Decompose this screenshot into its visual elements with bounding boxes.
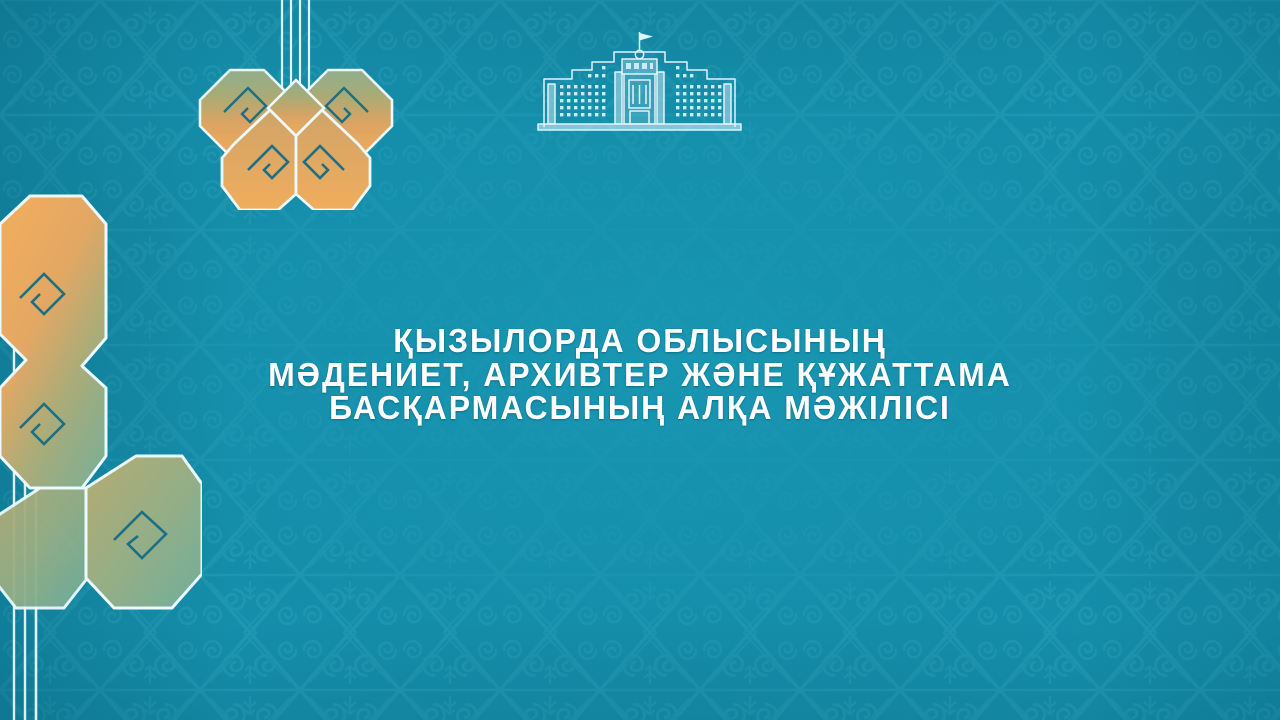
title-slide: ҚЫЗЫЛОРДА ОБЛЫСЫНЫҢ МӘДЕНИЕТ, АРХИВТЕР Ж…: [0, 0, 1280, 720]
kazakh-ornament-top: [178, 0, 414, 210]
title-line-1: ҚЫЗЫЛОРДА ОБЛЫСЫНЫҢ: [58, 324, 1222, 358]
title-line-3: БАСҚАРМАСЫНЫҢ АЛҚА МӘЖІЛІСІ: [58, 391, 1222, 425]
government-building-icon: [520, 28, 760, 136]
page-title: ҚЫЗЫЛОРДА ОБЛЫСЫНЫҢ МӘДЕНИЕТ, АРХИВТЕР Ж…: [0, 324, 1280, 425]
kazakh-ornament-left: [0, 188, 202, 720]
title-line-2: МӘДЕНИЕТ, АРХИВТЕР ЖӘНЕ ҚҰЖАТТАМА: [58, 358, 1222, 392]
